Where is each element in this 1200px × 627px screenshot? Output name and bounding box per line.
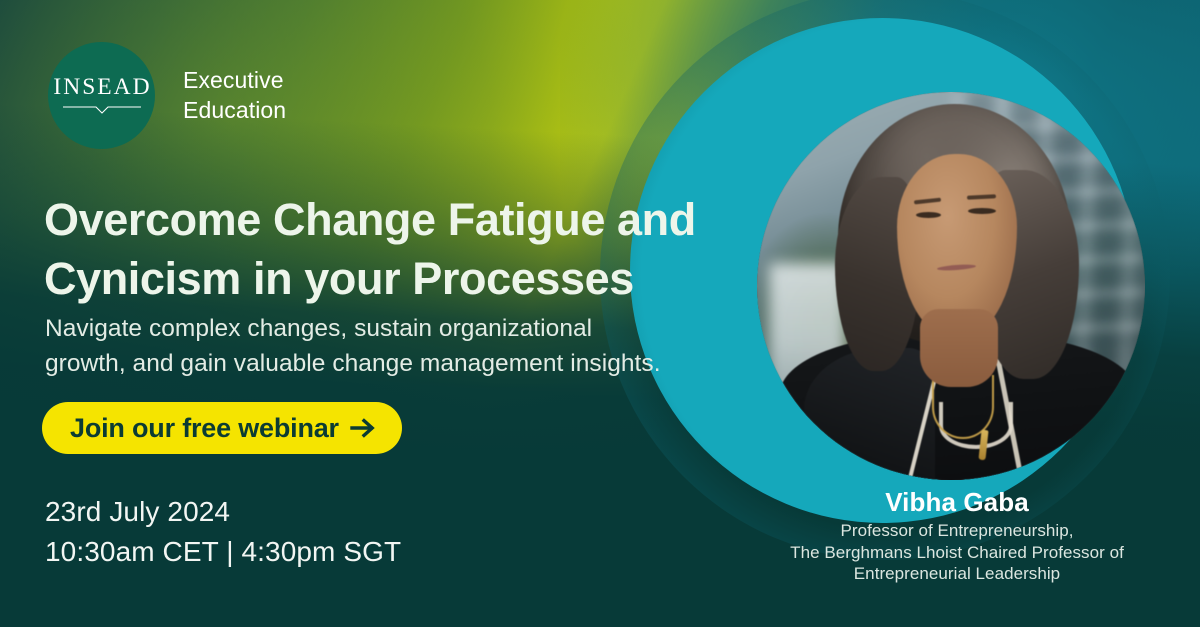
insead-wordmark: INSEAD	[51, 76, 151, 100]
speaker-photo	[757, 92, 1145, 480]
executive-education-label: Executive Education	[183, 66, 286, 125]
speaker-portrait	[757, 92, 1145, 480]
headline: Overcome Change Fatigue and Cynicism in …	[44, 191, 724, 308]
speaker-title: Professor of Entrepreneurship, The Bergh…	[722, 520, 1192, 585]
event-datetime: 23rd July 2024 10:30am CET | 4:30pm SGT	[45, 492, 401, 572]
join-webinar-button[interactable]: Join our free webinar	[42, 402, 402, 454]
speaker-caption: Vibha Gaba Professor of Entrepreneurship…	[722, 488, 1192, 585]
insead-underline-icon	[63, 106, 141, 115]
speaker-name: Vibha Gaba	[722, 488, 1192, 518]
photo-neck	[920, 309, 998, 387]
arrow-right-icon	[350, 417, 376, 439]
insead-roundel-icon: INSEAD	[48, 42, 155, 149]
webinar-promo-banner: INSEAD Executive Education Overcome Chan…	[0, 0, 1200, 627]
join-webinar-label: Join our free webinar	[70, 415, 339, 442]
insead-logo-lockup[interactable]: INSEAD Executive Education	[48, 42, 286, 149]
subheadline: Navigate complex changes, sustain organi…	[45, 312, 705, 382]
